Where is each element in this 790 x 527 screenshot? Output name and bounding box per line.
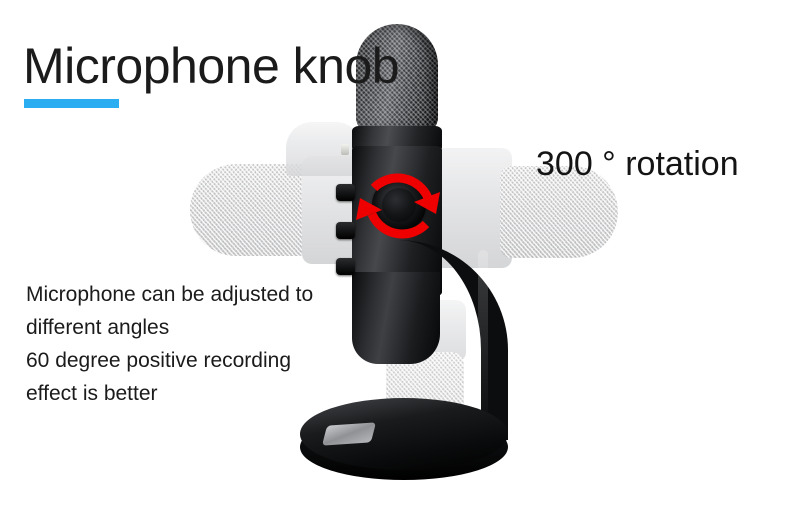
page-title: Microphone knob bbox=[23, 38, 399, 94]
ghost-mic-left-yoke bbox=[286, 122, 362, 176]
title-accent-bar bbox=[24, 99, 119, 108]
body-copy: Microphone can be adjusted to different … bbox=[26, 278, 313, 410]
body-copy-line: 60 degree positive recording bbox=[26, 344, 313, 377]
rotation-callout-label: 300 ° rotation bbox=[536, 144, 739, 184]
base-label-plate bbox=[322, 422, 376, 445]
microphone-led-indicator bbox=[341, 144, 349, 155]
body-copy-line: effect is better bbox=[26, 377, 313, 410]
microphone-button-bottom[interactable] bbox=[336, 258, 355, 275]
product-feature-banner: Microphone knob 300 ° rotation Microphon… bbox=[0, 0, 790, 527]
rotation-arrow-icon bbox=[352, 158, 448, 254]
stand-arm-highlight bbox=[478, 250, 488, 430]
body-copy-line: different angles bbox=[26, 311, 313, 344]
ghost-mic-left-grille bbox=[190, 164, 310, 256]
body-copy-line: Microphone can be adjusted to bbox=[26, 278, 313, 311]
